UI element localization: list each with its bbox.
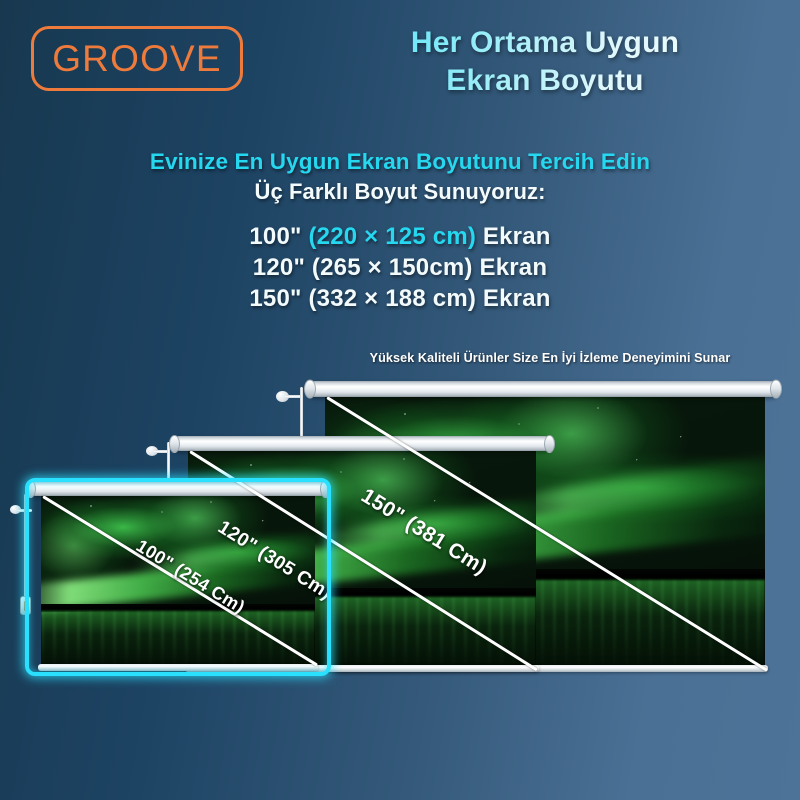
size-option-100: 100" (220 × 125 cm) Ekran	[0, 222, 800, 253]
screen-control-cable-100	[24, 494, 27, 599]
screen-roller-housing-120	[172, 436, 552, 451]
screen-weight-bar-100	[38, 664, 318, 671]
page-title-line-2: Ekran Boyutu	[300, 62, 790, 100]
size-option-100-suffix: Ekran	[483, 223, 551, 250]
size-option-120: 120" (265 × 150cm) Ekran	[0, 253, 800, 284]
roller-end-cap-left	[169, 435, 180, 453]
screen-control-switch-100[interactable]	[20, 596, 31, 615]
brand-logo-text: GROOVE	[52, 40, 222, 77]
brand-logo: GROOVE	[31, 26, 243, 91]
poster-canvas: GROOVE Her Ortama Uygun Ekran Boyutu Evi…	[0, 0, 800, 800]
subheading-secondary: Üç Farklı Boyut Sunuyoruz:	[0, 179, 800, 205]
screen-roller-housing-150	[307, 381, 779, 397]
size-option-120-inches: 120"	[253, 254, 305, 281]
size-option-150: 150" (332 × 188 cm) Ekran	[0, 284, 800, 315]
roller-end-cap-left	[25, 480, 36, 498]
size-option-150-inches: 150"	[249, 285, 301, 312]
size-option-list: 100" (220 × 125 cm) Ekran 120" (265 × 15…	[0, 222, 800, 315]
size-option-150-dimensions: (332 × 188 cm)	[308, 285, 476, 312]
size-option-120-dimensions: (265 × 150cm)	[312, 254, 473, 281]
roller-end-cap-right	[544, 435, 555, 453]
page-title-line-1: Her Ortama Uygun	[300, 24, 790, 62]
page-title: Her Ortama Uygun Ekran Boyutu	[300, 24, 790, 100]
roller-end-cap-left	[304, 380, 316, 399]
size-option-100-inches: 100"	[249, 223, 301, 250]
subheading-primary: Evinize En Uygun Ekran Boyutunu Tercih E…	[0, 148, 800, 175]
roller-end-cap-right	[770, 380, 782, 399]
subheading-group: Evinize En Uygun Ekran Boyutunu Tercih E…	[0, 148, 800, 205]
size-option-120-suffix: Ekran	[480, 254, 548, 281]
roller-end-cap-right	[320, 480, 331, 498]
size-option-100-dimensions: (220 × 125 cm)	[308, 223, 476, 250]
quality-caption: Yüksek Kaliteli Ürünler Size En İyi İzle…	[315, 351, 785, 365]
screen-roller-housing-100	[28, 481, 328, 496]
size-option-150-suffix: Ekran	[483, 285, 551, 312]
